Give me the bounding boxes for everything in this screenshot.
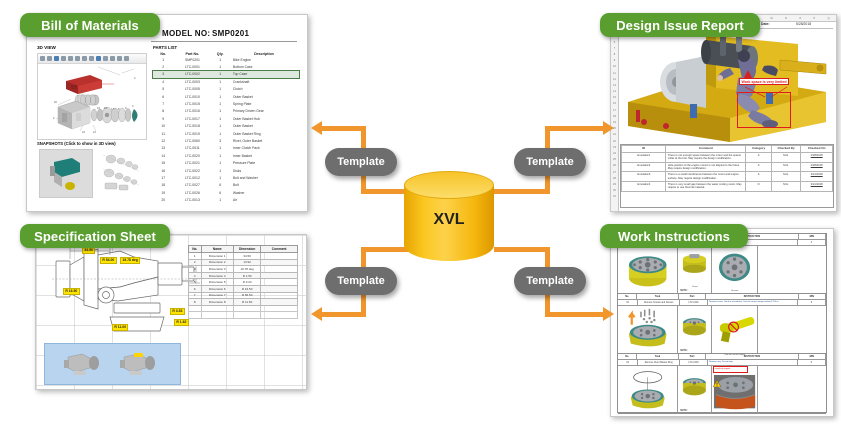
toolbar-more-icon[interactable] [124,56,129,61]
arrowhead-to-work-instructions [603,307,614,321]
template-pill-spec[interactable]: Template [325,267,397,295]
spec-sheet-cell [261,299,298,306]
work-instruction-cell: Remove Outer Basket Ring [638,360,680,365]
toolbar-pan-icon[interactable] [61,56,66,61]
spec-sheet-cell: R 11.50 [234,299,261,306]
parts-list-cell: LTC-0010 [173,93,211,100]
spec-sheet-cell [261,292,298,299]
spreadsheet-row-headers: 345678 91011121314 151617181920 21222324… [611,21,619,211]
table-row[interactable]: 9LTC-00171Outer Basket Hub [153,115,299,122]
spec-dimension-tag-2: R 54.00 [100,257,117,264]
toolbar-view-icon[interactable] [103,56,108,61]
parts-list-cell: LTC-0017 [173,115,211,122]
work-instruction-cell: 03 [618,360,638,365]
parts-list-cell: LTC-0027 [173,182,211,189]
svg-text:2: 2 [53,116,55,120]
svg-text:20: 20 [54,100,57,104]
template-pill-bom-label: Template [337,156,384,168]
table-row[interactable] [189,312,298,319]
panel-design-issue-report[interactable]: BCDEFG HIJKLM NOPQ 345678 91011121314 15… [610,14,837,212]
spec-sheet-body[interactable]: 1Dimension 134.502Dimension 213.923Dimen… [189,253,298,319]
spec-sheet-cell [261,312,298,319]
spec-sheet-cell: 6 [189,285,202,292]
toolbar-fit-icon[interactable] [75,56,80,61]
parts-list-cell: 11 [153,130,173,137]
parts-list-cell: LTC-0022 [173,167,211,174]
spec-sheet-cell: 1 [189,253,202,260]
spec-sheet-cell [261,266,298,273]
table-row[interactable]: 4LTC-00031Crankshaft [153,78,299,85]
svg-text:22: 22 [82,130,85,134]
spec-sheet-cell: Dimension 7 [201,292,234,299]
work-instruction-step[interactable]: No.TaskPartINSTRUCTIONMIN03Remove Outer … [618,354,826,414]
parts-list-cell: 20 [153,196,173,203]
work-instruction-cell: Remove ring. Do not drop. [708,360,798,365]
parts-list-cell: LTC-0011 [173,145,211,152]
work-instruction-blank-cell [758,246,826,293]
design-issue-cell: M.H. [771,182,801,192]
connector-hub-to-design-horizontal [545,126,604,131]
parts-list-cell: 1 [211,63,229,70]
diagram-canvas: MODEL NO: SMP0201 3D VIEW [0,0,841,429]
work-instruction-main-image [618,366,678,413]
parts-list-cell: 10 [153,123,173,130]
design-issue-date-value: 5/28/2018 [796,22,811,26]
design-issue-cell: 2/28/2018 [801,152,833,162]
spec-sheet-cell: 5 [189,279,202,286]
toolbar-section-icon[interactable] [82,56,87,61]
work-instruction-blank-cell [758,366,826,413]
parts-list-cell: 1 [211,123,229,130]
table-row[interactable]: 1Dimension 134.50 [189,253,298,260]
design-issue-cell: Hole position of the engine mount is not… [666,162,746,172]
spec-sheet-cell [189,305,202,312]
panel-bill-of-materials[interactable]: MODEL NO: SMP0201 3D VIEW [26,14,308,212]
spec-sheet-thumbnail-1[interactable] [58,347,108,379]
work-instruction-detail-image-2: Please wait until LTC motor blade is com… [712,366,758,413]
spec-sheet-thumbnail-2[interactable] [114,347,164,379]
table-row[interactable]: 11LTC-00191Outer Basket Ring [153,130,299,137]
arrowhead-to-spec-sheet [311,307,322,321]
spec-sheet-cell [261,279,298,286]
work-instruction-cell: Remove screw. Use the screwdriver. Use t… [708,300,798,305]
bom-3d-view-label: 3D VIEW [37,45,56,50]
design-issue-cell: A [746,152,771,162]
design-issue-date-label: Date: [761,22,769,26]
spec-dimension-tag-8: R 11.00 [112,324,128,331]
work-instruction-steps[interactable]: No.TaskPartINSTRUCTIONMIN01Remove CoverL… [618,234,826,414]
work-instruction-cell: 5 [798,360,826,365]
spec-sheet-cell [189,312,202,319]
svg-text:3: 3 [132,104,134,108]
parts-list-cell: 19 [153,189,173,196]
parts-list-cell: 1 [211,100,229,107]
bom-exploded-engine-illustration: 202 1415 1617 89 322 214 [38,63,146,139]
template-pill-spec-label: Template [337,275,384,287]
table-row[interactable]: 19LTC-00266Washer [153,189,299,196]
design-issue-table[interactable]: IDCommentCategoryChecked ByChecked On An… [620,144,834,208]
parts-list-cell: 5 [153,86,173,93]
table-row[interactable]: 13LTC-00111Inner Clutch Pack [153,145,299,152]
design-issue-cell: There is very small gap between the wate… [666,182,746,192]
work-instruction-cell: 3 [798,240,826,245]
spec-sheet-cell: 4 [189,272,202,279]
badge-specification-sheet[interactable]: Specification Sheet [20,224,170,248]
spec-sheet-col-header: No. [189,246,202,253]
table-row[interactable]: 3Dimension 319.78 deg [189,266,298,273]
spec-sheet-cell [234,305,261,312]
bom-snapshot-thumbnail-2[interactable] [97,149,145,196]
arrowhead-to-bom [311,121,322,135]
design-issue-cell: A [746,162,771,172]
template-pill-design-issue-label: Template [526,156,573,168]
spec-sheet-cell: R 1.50 [234,272,261,279]
spec-sheet-cell [261,285,298,292]
parts-list-cell: Rivet, Outer Basket [229,137,299,144]
bom-snapshots-label: SNAPSHOTS (Click to show in 3D view) [37,141,116,146]
design-issue-body[interactable]: Annotation1There is not enough space bet… [622,152,833,191]
work-instruction-cell: Remove Screws and Screws [638,300,680,305]
table-row[interactable]: 12LTC-00603Rivet, Outer Basket [153,137,299,144]
design-issue-col-header: Checked On [801,146,833,153]
parts-list-cell: LTC-0013 [173,196,211,203]
arrowhead-to-design-issue [603,121,614,135]
spec-sheet-cell: Dimension 1 [201,253,234,260]
snapshot-exploded-render [97,149,145,196]
work-instruction-cell: LTC-0102 [680,300,708,305]
template-pill-work-instructions-label: Template [526,275,573,287]
work-instruction-graphics-row: Use the correct torque [618,306,826,353]
work-instruction-note-label: NOTE: [680,410,687,412]
table-row[interactable]: 8LTC-00161Primary Driven Gear [153,108,299,115]
spec-dimension-tag-7: R 1.62 [174,319,189,326]
connector-hub-to-spec-horizontal-bottom [322,312,366,317]
work-instruction-cell: 02 [618,300,638,305]
parts-list-cell: 13 [153,145,173,152]
parts-list-cell: LTC-0015 [173,100,211,107]
parts-list-cell: LTC-0018 [173,123,211,130]
table-row[interactable]: 17LTC-00121Bolt and Washer [153,174,299,181]
design-issue-cell: A [746,172,771,182]
connector-hub-to-bom-horizontal [322,126,366,131]
table-row[interactable]: Annotation3There is a small interference… [622,172,833,182]
design-issue-cell: Annotation2 [622,162,666,172]
parts-list-cell: 1 [211,174,229,181]
table-row[interactable]: 4Dimension 4R 1.50 [189,272,298,279]
parts-list-cell: 1 [211,145,229,152]
design-issue-col-header: Comment [666,146,746,153]
parts-list-cell: Outer Basket Ring [229,130,299,137]
parts-list-cell: 2 [153,63,173,70]
badge-design-issue-text: Design Issue Report [616,18,744,33]
parts-list-cell: Top Case [229,71,299,78]
parts-list-cell: 1 [153,56,173,63]
table-row[interactable]: 7LTC-00151Spring Plate [153,100,299,107]
parts-list-cell: LTC-0026 [173,189,211,196]
parts-list-cell: LTC-0002 [173,71,211,78]
snapshot-engine-render [40,150,92,197]
table-row[interactable]: 10LTC-00181Outer Basket [153,123,299,130]
parts-list-cell: Outer Basket [229,123,299,130]
parts-list-cell: 14 [153,152,173,159]
bom-parts-list-table[interactable]: No.Part No.Qty.Description 1SMP02011Bike… [153,52,299,204]
work-instruction-note-label: NOTE: [680,290,687,292]
parts-list-cell: 15 [153,159,173,166]
badge-work-instructions-text: Work Instructions [618,229,730,244]
panel-specification-sheet[interactable]: 34.50 R 54.00 19.78 deg R 16.50 20.92 R … [35,234,307,390]
parts-list-cell: LTC-0012 [173,174,211,181]
work-instruction-note-label: NOTE: [680,350,687,352]
spec-sheet-cell: Dimension 5 [201,279,234,286]
warning-triangle-icon [713,374,721,381]
parts-list-cell: Inner Basket [229,152,299,159]
parts-list-cell: 3 [153,71,173,78]
table-row[interactable]: 8Dimension 8R 11.50 [189,299,298,306]
parts-list-cell: Bottom Case [229,63,299,70]
work-instruction-col-header: Part [679,354,706,359]
bom-snapshot-thumbnail-1[interactable] [39,149,93,198]
spec-dimension-tag-1: 34.50 [82,247,95,254]
table-row[interactable]: 6LTC-00101Outer Basket [153,93,299,100]
connector-hub-right-upper [494,189,550,194]
parts-list-cell: 16 [153,167,173,174]
design-issue-col-header: Checked By [771,146,801,153]
spec-sheet-cell [201,305,234,312]
work-instruction-graphics-row: Please wait until LTC motor blade is com… [618,366,826,413]
template-pill-bom[interactable]: Template [325,148,397,176]
design-issue-cell: 2/28/2018 [801,162,833,172]
parts-list-cell: 1 [211,56,229,63]
table-row[interactable]: 18LTC-00276Bolt [153,182,299,189]
parts-list-cell: Bolt [229,182,299,189]
spec-sheet-cell: R 16.50 [234,285,261,292]
parts-list-cell: 1 [211,130,229,137]
parts-list-cell: Bolt and Washer [229,174,299,181]
table-row[interactable]: 2Dimension 213.92 [189,259,298,266]
spec-sheet-cell [234,312,261,319]
design-issue-cell: There is not enough space between the mo… [666,152,746,162]
design-issue-cell: Annotation1 [622,152,666,162]
toolbar-select-icon[interactable] [40,56,45,61]
parts-list-cell: Crankshaft [229,78,299,85]
design-issue-cell: 3/21/2018 [801,182,833,192]
parts-list-cell: 1 [211,115,229,122]
bom-parts-list-table-wrap[interactable]: No.Part No.Qty.Description 1SMP02011Bike… [153,52,299,204]
table-row[interactable]: 6Dimension 6R 16.50 [189,285,298,292]
parts-list-cell: LTC-0001 [173,63,211,70]
parts-list-cell: 1 [211,152,229,159]
parts-list-cell: LTC-0003 [173,78,211,85]
parts-list-cell: 6 [211,182,229,189]
design-issue-cell: M.H. [771,172,801,182]
badge-design-issue-report[interactable]: Design Issue Report [600,13,760,37]
toolbar-dropdown-icon[interactable] [47,56,52,61]
toolbar-layer-icon[interactable] [110,56,115,61]
work-instruction-main-image [618,306,678,353]
table-row[interactable]: 14LTC-00201Inner Basket [153,152,299,159]
spec-sheet-cell: 2 [189,259,202,266]
parts-list-cell: 17 [153,174,173,181]
spec-sheet-cell: Dimension 6 [201,285,234,292]
badge-bom-text: Bill of Materials [41,18,139,33]
work-instruction-col-header: MIN [799,294,826,299]
table-row[interactable]: 5Dimension 5R 3.24 [189,279,298,286]
spec-sheet-col-header: Comment [261,246,298,253]
parts-list-cell: Washer [229,189,299,196]
badge-work-instructions[interactable]: Work Instructions [600,224,748,248]
parts-list-cell: 6 [211,189,229,196]
parts-list-cell: LTC-0019 [173,130,211,137]
parts-list-cell: Inner Clutch Pack [229,145,299,152]
table-row[interactable]: 20LTC-00131Air [153,196,299,203]
spec-sheet-cell: R 56.50 [234,292,261,299]
parts-list-cell: 1 [211,159,229,166]
badge-spec-sheet-text: Specification Sheet [34,229,156,244]
parts-list-cell: LTC-0020 [173,152,211,159]
table-row[interactable]: Annotation2Hole position of the engine m… [622,162,833,172]
design-issue-cell: There is a small interference between th… [666,172,746,182]
design-issue-cell: 3/21/2018 [801,172,833,182]
bom-title-rule [151,41,297,42]
bom-model-no-value: SMP0201 [212,29,249,38]
parts-list-cell: LTC-0021 [173,159,211,166]
spec-sheet-cell: Dimension 2 [201,259,234,266]
template-pill-design-issue[interactable]: Template [514,148,586,176]
spec-sheet-cell: 3 [189,266,202,273]
spec-sheet-cell [261,253,298,260]
connector-hub-to-wi-horizontal-bottom [545,312,604,317]
design-issue-col-header: Category [746,146,771,153]
design-issue-cell: M.H. [771,162,801,172]
toolbar-explode-icon[interactable] [96,56,101,61]
table-row[interactable]: 5LTC-00051Clutch [153,86,299,93]
spec-sheet-cell: Dimension 8 [201,299,234,306]
table-row[interactable]: 7Dimension 7R 56.50 [189,292,298,299]
work-instruction-cell: LTC-0103 [680,360,708,365]
connector-hub-to-wi-horizontal-top [494,247,550,252]
table-row[interactable]: 15LTC-00211Pressure Plate [153,159,299,166]
spec-dimension-tag-6: R 3.53 [170,308,185,315]
work-instruction-detail-image-2: Use the correct torque [712,306,758,353]
parts-list-cell: 4 [153,78,173,85]
spec-sheet-cell [261,259,298,266]
parts-list-cell: Pressure Plate [229,159,299,166]
design-issue-callout-leader [731,83,801,105]
bom-3d-viewport[interactable]: 202 1415 1617 89 322 214 [37,53,147,140]
table-row[interactable]: Annotation1There is not enough space bet… [622,152,833,162]
parts-list-cell: 8 [153,108,173,115]
table-row[interactable]: 16LTC-00221Disks [153,167,299,174]
spec-sheet-col-header: Dimension [234,246,261,253]
xvl-hub-label: XVL [404,211,494,229]
work-instruction-col-header: MIN [799,354,826,359]
spec-sheet-cell: Dimension 3 [201,266,234,273]
parts-list-cell: 1 [211,196,229,203]
design-issue-cell: Annotation4 [622,182,666,192]
spec-sheet-cell [261,305,298,312]
work-instruction-col-header: MIN [799,234,826,239]
spec-sheet-col-header: Name [201,246,234,253]
table-row[interactable] [189,305,298,312]
spec-sheet-cell: 13.92 [234,259,261,266]
parts-list-cell: 1 [211,78,229,85]
table-row[interactable]: 2LTC-00011Bottom Case [153,63,299,70]
parts-list-cell: 1 [211,108,229,115]
parts-list-cell: 1 [211,93,229,100]
work-instruction-blank-cell [758,306,826,353]
spec-sheet-cell [201,312,234,319]
parts-list-cell: Air [229,196,299,203]
spec-sheet-cell: 34.50 [234,253,261,260]
spec-sheet-header-row: No.NameDimensionComment [189,246,298,253]
template-pill-work-instructions[interactable]: Template [514,267,586,295]
work-instruction-main-image [618,246,678,293]
spec-sheet-cell [261,272,298,279]
table-row[interactable]: 1SMP02011Bike Engine [153,56,299,63]
work-instruction-col-header: INSTRUCTION [706,294,798,299]
design-issue-cell: D [746,182,771,192]
toolbar-measure-icon[interactable] [89,56,94,61]
parts-list-cell: 12 [153,137,173,144]
work-instruction-col-header: No. [618,354,637,359]
parts-list-cell: 1 [211,167,229,174]
work-instruction-col-header: Task [637,294,679,299]
design-issue-cell: M.H. [771,152,801,162]
parts-list-cell: 1 [211,86,229,93]
work-instruction-cell: 6 [798,300,826,305]
parts-list-cell: SMP0201 [173,56,211,63]
design-issue-col-header: ID [622,146,666,153]
table-row[interactable]: Annotation4There is very small gap betwe… [622,182,833,192]
spec-sheet-cell: 7 [189,292,202,299]
work-instruction-warning-text: Please wait until LTC motor blade is com… [713,366,748,373]
parts-list-cell: Spring Plate [229,100,299,107]
spec-dimension-tag-4: R 16.50 [63,288,80,295]
parts-list-cell: Outer Basket [229,93,299,100]
spec-sheet-cell: 19.78 deg [234,266,261,273]
spec-sheet-table[interactable]: No.NameDimensionComment 1Dimension 134.5… [188,245,298,319]
xvl-hub[interactable]: XVL [404,171,494,263]
toolbar-rotate-icon[interactable] [54,56,59,61]
work-instruction-col-header: Part [679,294,706,299]
badge-bill-of-materials[interactable]: Bill of Materials [20,13,160,37]
parts-list-body[interactable]: 1SMP02011Bike Engine2LTC-00011Bottom Cas… [153,56,299,204]
parts-list-cell: 3 [211,137,229,144]
spec-sheet-cell: R 3.24 [234,279,261,286]
parts-list-cell: LTC-0005 [173,86,211,93]
work-instruction-col-header: No. [618,294,637,299]
work-instruction-graphics-row: Cover Screws [618,246,826,293]
parts-list-cell: 1 [211,71,229,78]
table-row[interactable]: 3LTC-00021Top Case [153,71,299,78]
parts-list-cell: Disks [229,167,299,174]
bom-model-no-label: MODEL NO: [162,29,210,38]
work-instruction-col-header: Task [637,354,679,359]
work-instruction-step[interactable]: No.TaskPartINSTRUCTIONMIN02Remove Screws… [618,294,826,354]
parts-list-cell: 18 [153,182,173,189]
spec-sheet-table-wrap[interactable]: No.NameDimensionComment 1Dimension 134.5… [188,245,298,319]
design-issue-header-row: IDCommentCategoryChecked ByChecked On [622,146,833,153]
work-instruction-detail-image-1 [678,366,712,413]
parts-list-cell: Outer Basket Hub [229,115,299,122]
toolbar-annotate-icon[interactable] [117,56,122,61]
panel-work-instructions[interactable]: No.TaskPartINSTRUCTIONMIN01Remove CoverL… [610,228,834,417]
parts-list-cell: Clutch [229,86,299,93]
toolbar-zoom-icon[interactable] [68,56,73,61]
xvl-hub-top [404,171,494,199]
work-instructions-table[interactable]: No.TaskPartINSTRUCTIONMIN01Remove CoverL… [617,233,827,413]
parts-list-cell: 7 [153,100,173,107]
